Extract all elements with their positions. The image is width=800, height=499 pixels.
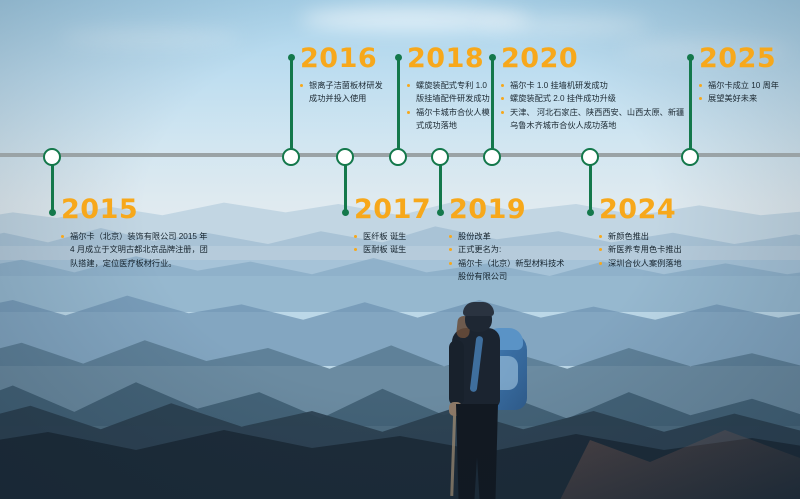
- milestone-2025: 2025福尔卡成立 10 周年展望美好未来: [699, 45, 779, 106]
- milestone-item: 股份有限公司: [449, 270, 564, 283]
- node-stem: [491, 57, 494, 155]
- milestone-item: 医纤板 诞生: [354, 230, 431, 243]
- milestone-item: 医耐板 诞生: [354, 243, 431, 256]
- node-tip-dot: [49, 209, 56, 216]
- milestone-item-list: 股份改革正式更名为:福尔卡（北京）新型材料技术股份有限公司: [449, 230, 564, 283]
- node-tip-dot: [687, 54, 694, 61]
- milestone-2017: 2017医纤板 诞生医耐板 诞生: [354, 196, 431, 257]
- milestone-year: 2015: [61, 196, 208, 223]
- milestone-2020: 2020福尔卡 1.0 挂墙机研发成功螺旋装配式 2.0 挂件成功升级天津、 河…: [501, 45, 684, 132]
- node-tip-dot: [437, 209, 444, 216]
- milestone-item: 新颜色推出: [599, 230, 682, 243]
- milestone-item: 福尔卡（北京）装饰有限公司 2015 年: [61, 230, 208, 243]
- milestone-year: 2017: [354, 196, 431, 223]
- node-tip-dot: [395, 54, 402, 61]
- milestone-year: 2025: [699, 45, 779, 72]
- milestone-item-list: 银离子洁菌板材研发成功并投入使用: [300, 79, 383, 106]
- milestone-item: 正式更名为:: [449, 243, 564, 256]
- node-circle[interactable]: [43, 148, 61, 166]
- node-tip-dot: [342, 209, 349, 216]
- node-circle[interactable]: [581, 148, 599, 166]
- node-circle[interactable]: [431, 148, 449, 166]
- milestone-year: 2024: [599, 196, 682, 223]
- milestone-item: 4 月成立于文明古都北京品牌注册，团: [61, 243, 208, 256]
- node-tip-dot: [587, 209, 594, 216]
- milestone-2016: 2016银离子洁菌板材研发成功并投入使用: [300, 45, 383, 106]
- node-circle[interactable]: [681, 148, 699, 166]
- node-tip-dot: [288, 54, 295, 61]
- milestone-item: 版挂墙配件研发成功: [407, 92, 490, 105]
- milestone-item: 股份改革: [449, 230, 564, 243]
- milestone-item-list: 新颜色推出新医养专用色卡推出深圳合伙人案例落地: [599, 230, 682, 270]
- milestone-2019: 2019股份改革正式更名为:福尔卡（北京）新型材料技术股份有限公司: [449, 196, 564, 283]
- milestone-item: 福尔卡（北京）新型材料技术: [449, 257, 564, 270]
- milestone-2018: 2018螺旋装配式专利 1.0版挂墙配件研发成功福尔卡城市合伙人模式成功落地: [407, 45, 490, 132]
- milestone-item: 福尔卡城市合伙人模: [407, 106, 490, 119]
- milestone-item: 螺旋装配式专利 1.0: [407, 79, 490, 92]
- milestone-year: 2020: [501, 45, 684, 72]
- milestone-item: 福尔卡成立 10 周年: [699, 79, 779, 92]
- milestone-item: 成功并投入使用: [300, 92, 383, 105]
- milestone-item-list: 福尔卡成立 10 周年展望美好未来: [699, 79, 779, 106]
- milestone-item-list: 螺旋装配式专利 1.0版挂墙配件研发成功福尔卡城市合伙人模式成功落地: [407, 79, 490, 132]
- milestone-2024: 2024新颜色推出新医养专用色卡推出深圳合伙人案例落地: [599, 196, 682, 270]
- milestone-item: 螺旋装配式 2.0 挂件成功升级: [501, 92, 684, 105]
- milestone-item: 队搭建，定位医疗板材行业。: [61, 257, 208, 270]
- milestone-item-list: 福尔卡 1.0 挂墙机研发成功螺旋装配式 2.0 挂件成功升级天津、 河北石家庄…: [501, 79, 684, 132]
- milestone-year: 2018: [407, 45, 490, 72]
- milestone-item-list: 医纤板 诞生医耐板 诞生: [354, 230, 431, 257]
- node-circle[interactable]: [336, 148, 354, 166]
- milestone-item: 展望美好未来: [699, 92, 779, 105]
- node-circle[interactable]: [282, 148, 300, 166]
- milestone-year: 2016: [300, 45, 383, 72]
- milestone-item: 福尔卡 1.0 挂墙机研发成功: [501, 79, 684, 92]
- timeline-infographic: 2015福尔卡（北京）装饰有限公司 2015 年4 月成立于文明古都北京品牌注册…: [0, 0, 800, 499]
- node-circle[interactable]: [389, 148, 407, 166]
- node-stem: [290, 57, 293, 155]
- node-stem: [689, 57, 692, 155]
- milestone-item: 深圳合伙人案例落地: [599, 257, 682, 270]
- milestone-item: 天津、 河北石家庄、陕西西安、山西太原、新疆: [501, 106, 684, 119]
- node-stem: [397, 57, 400, 155]
- node-circle[interactable]: [483, 148, 501, 166]
- milestone-year: 2019: [449, 196, 564, 223]
- milestone-item: 乌鲁木齐城市合伙人成功落地: [501, 119, 684, 132]
- milestone-2015: 2015福尔卡（北京）装饰有限公司 2015 年4 月成立于文明古都北京品牌注册…: [61, 196, 208, 270]
- milestone-item: 式成功落地: [407, 119, 490, 132]
- milestone-item: 新医养专用色卡推出: [599, 243, 682, 256]
- milestone-item-list: 福尔卡（北京）装饰有限公司 2015 年4 月成立于文明古都北京品牌注册，团队搭…: [61, 230, 208, 270]
- milestone-item: 银离子洁菌板材研发: [300, 79, 383, 92]
